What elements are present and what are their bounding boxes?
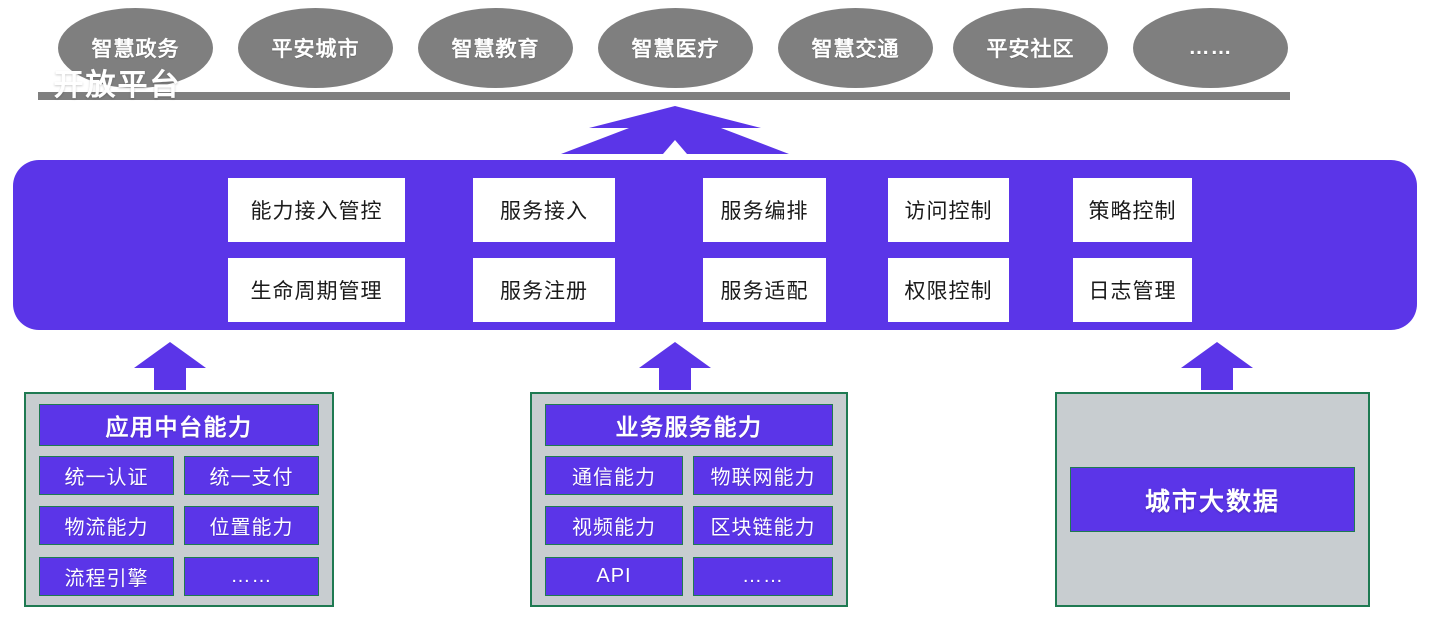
capability-cell-unified-payment[interactable]: 统一支付 xyxy=(184,456,319,495)
group-header-app-middle-platform: 应用中台能力 xyxy=(39,404,319,446)
platform-module-service-registration[interactable]: 服务注册 xyxy=(473,258,615,322)
scenario-ellipse-more[interactable]: …… xyxy=(1133,8,1288,88)
open-platform-title: 开放平台 xyxy=(30,60,205,104)
capability-cell-more[interactable]: …… xyxy=(693,557,833,596)
capability-cell-blockchain[interactable]: 区块链能力 xyxy=(693,506,833,545)
big-data-to-platform-arrow-icon xyxy=(1181,342,1253,390)
scenario-label: 智慧教育 xyxy=(452,33,540,63)
scenario-label: 智慧交通 xyxy=(812,33,900,63)
capability-cell-unified-auth[interactable]: 统一认证 xyxy=(39,456,174,495)
scenario-ellipse-smart-transport[interactable]: 智慧交通 xyxy=(778,8,933,88)
scenario-label: 智慧政务 xyxy=(92,33,180,63)
platform-to-scenarios-arrow-icon xyxy=(525,104,825,156)
scenario-ellipse-safe-community[interactable]: 平安社区 xyxy=(953,8,1108,88)
business-service-to-platform-arrow-icon xyxy=(639,342,711,390)
scenario-ellipse-smart-healthcare[interactable]: 智慧医疗 xyxy=(598,8,753,88)
scenario-label: 平安城市 xyxy=(272,33,360,63)
app-middle-platform-to-platform-arrow-icon xyxy=(134,342,206,390)
capability-cell-process-engine[interactable]: 流程引擎 xyxy=(39,557,174,596)
scenario-baseline-bar xyxy=(38,92,1290,100)
platform-module-lifecycle-management[interactable]: 生命周期管理 xyxy=(228,258,405,322)
scenario-label: 平安社区 xyxy=(987,33,1075,63)
platform-module-log-management[interactable]: 日志管理 xyxy=(1073,258,1192,322)
platform-module-service-access[interactable]: 服务接入 xyxy=(473,178,615,242)
capability-cell-location[interactable]: 位置能力 xyxy=(184,506,319,545)
platform-module-permission-control[interactable]: 权限控制 xyxy=(888,258,1009,322)
platform-module-service-adaptation[interactable]: 服务适配 xyxy=(703,258,826,322)
platform-module-access-control[interactable]: 访问控制 xyxy=(888,178,1009,242)
capability-cell-communication[interactable]: 通信能力 xyxy=(545,456,683,495)
scenario-label: 智慧医疗 xyxy=(632,33,720,63)
city-big-data-box[interactable]: 城市大数据 xyxy=(1070,467,1355,532)
scenario-ellipse-smart-education[interactable]: 智慧教育 xyxy=(418,8,573,88)
scenario-ellipse-safe-city[interactable]: 平安城市 xyxy=(238,8,393,88)
platform-module-policy-control[interactable]: 策略控制 xyxy=(1073,178,1192,242)
platform-module-service-orchestration[interactable]: 服务编排 xyxy=(703,178,826,242)
platform-module-capability-access-control[interactable]: 能力接入管控 xyxy=(228,178,405,242)
capability-cell-logistics[interactable]: 物流能力 xyxy=(39,506,174,545)
capability-cell-more[interactable]: …… xyxy=(184,557,319,596)
capability-cell-api[interactable]: API xyxy=(545,557,683,596)
group-header-business-service: 业务服务能力 xyxy=(545,404,833,446)
scenario-label: …… xyxy=(1189,36,1233,60)
architecture-diagram: 智慧政务 平安城市 智慧教育 智慧医疗 智慧交通 平安社区 …… 开放平台 能力… xyxy=(0,0,1431,620)
capability-cell-iot[interactable]: 物联网能力 xyxy=(693,456,833,495)
capability-cell-video[interactable]: 视频能力 xyxy=(545,506,683,545)
